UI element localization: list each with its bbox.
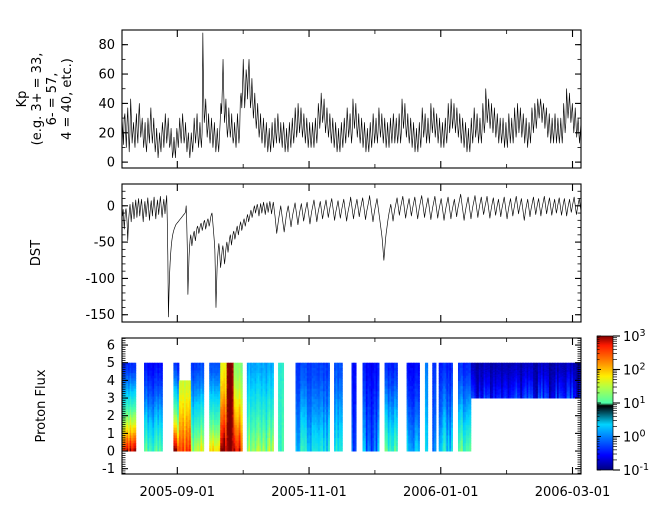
heatmap-cell bbox=[161, 386, 163, 389]
y-tick-label: 20 bbox=[98, 126, 115, 141]
heatmap-cell bbox=[396, 441, 398, 444]
heatmap-cell bbox=[434, 396, 436, 399]
heatmap-cell bbox=[161, 371, 163, 374]
heatmap-cell bbox=[272, 417, 274, 420]
heatmap-cell bbox=[282, 391, 284, 394]
heatmap-cell bbox=[282, 446, 284, 449]
heatmap-cell bbox=[202, 409, 204, 412]
heatmap-cell bbox=[426, 378, 428, 381]
heatmap-cell bbox=[282, 430, 284, 433]
heatmap-cell bbox=[355, 407, 357, 410]
heatmap-cell bbox=[396, 389, 398, 392]
heatmap-cell bbox=[202, 381, 204, 384]
heatmap-cell bbox=[134, 389, 136, 392]
heatmap-cell bbox=[241, 368, 243, 371]
heatmap-cell bbox=[355, 371, 357, 374]
heatmap-cell bbox=[177, 365, 179, 368]
heatmap-cell bbox=[341, 389, 343, 392]
heatmap-cell bbox=[434, 420, 436, 423]
heatmap-cell bbox=[202, 389, 204, 392]
heatmap-cell bbox=[418, 412, 420, 415]
heatmap-cell bbox=[202, 407, 204, 410]
heatmap-cell bbox=[328, 407, 330, 410]
y-tick-label: -50 bbox=[94, 236, 115, 251]
heatmap-cell bbox=[134, 446, 136, 449]
heatmap-cell bbox=[282, 381, 284, 384]
heatmap-cell bbox=[328, 425, 330, 428]
y-tick-label: 0 bbox=[107, 156, 115, 171]
heatmap-cell bbox=[134, 417, 136, 420]
heatmap-cell bbox=[426, 412, 428, 415]
heatmap-cell bbox=[161, 391, 163, 394]
heatmap-cell bbox=[272, 446, 274, 449]
heatmap-cell bbox=[341, 376, 343, 379]
heatmap-cell bbox=[272, 376, 274, 379]
heatmap-cell bbox=[418, 389, 420, 392]
heatmap-cell bbox=[328, 376, 330, 379]
heatmap-cell bbox=[377, 430, 379, 433]
heatmap-cell bbox=[396, 376, 398, 379]
heatmap-cell bbox=[241, 402, 243, 405]
heatmap-cell bbox=[426, 365, 428, 368]
heatmap-cell bbox=[282, 420, 284, 423]
heatmap-cell bbox=[426, 399, 428, 402]
heatmap-cell bbox=[418, 448, 420, 451]
heatmap-cell bbox=[396, 438, 398, 441]
heatmap-cell bbox=[434, 412, 436, 415]
heatmap-cell bbox=[396, 396, 398, 399]
heatmap-cell bbox=[282, 368, 284, 371]
heatmap-cell bbox=[328, 365, 330, 368]
heatmap-cell bbox=[418, 430, 420, 433]
heatmap-cell bbox=[272, 368, 274, 371]
heatmap-cell bbox=[418, 409, 420, 412]
heatmap-cell bbox=[418, 428, 420, 431]
heatmap-cell bbox=[272, 402, 274, 405]
heatmap-cell bbox=[341, 371, 343, 374]
heatmap-cell bbox=[396, 430, 398, 433]
heatmap-cell bbox=[134, 365, 136, 368]
kp-axis-label-line: 6- = 57, bbox=[45, 73, 60, 126]
heatmap-cell bbox=[434, 446, 436, 449]
heatmap-cell bbox=[177, 376, 179, 379]
heatmap-cell bbox=[355, 438, 357, 441]
heatmap-cell bbox=[134, 396, 136, 399]
heatmap-cell bbox=[418, 376, 420, 379]
heatmap-cell bbox=[161, 399, 163, 402]
heatmap-cell bbox=[134, 441, 136, 444]
heatmap-cell bbox=[355, 425, 357, 428]
heatmap-cell bbox=[272, 412, 274, 415]
heatmap-cell bbox=[341, 381, 343, 384]
heatmap-cell bbox=[418, 446, 420, 449]
heatmap-cell bbox=[134, 402, 136, 405]
heatmap-cell bbox=[282, 428, 284, 431]
heatmap-cell bbox=[202, 435, 204, 438]
heatmap-cell bbox=[161, 446, 163, 449]
heatmap-cell bbox=[396, 386, 398, 389]
heatmap-cell bbox=[134, 428, 136, 431]
heatmap-cell bbox=[355, 376, 357, 379]
heatmap-cell bbox=[418, 371, 420, 374]
heatmap-cell bbox=[396, 446, 398, 449]
heatmap-cell bbox=[341, 438, 343, 441]
heatmap-cell bbox=[282, 417, 284, 420]
heatmap-cell bbox=[341, 441, 343, 444]
three-panel-timeseries-plot: 020406080 Kp(e.g. 3+ = 33,6- = 57,4 = 40… bbox=[0, 0, 665, 523]
heatmap-cell bbox=[241, 425, 243, 428]
heatmap-cell bbox=[202, 448, 204, 451]
heatmap-cell bbox=[418, 391, 420, 394]
heatmap-cell bbox=[161, 396, 163, 399]
heatmap-cell bbox=[282, 396, 284, 399]
heatmap-cell bbox=[134, 407, 136, 410]
kp-axis-label-line: (e.g. 3+ = 33, bbox=[30, 53, 45, 146]
heatmap-cell bbox=[202, 391, 204, 394]
heatmap-cell bbox=[328, 420, 330, 423]
heatmap-cell bbox=[282, 441, 284, 444]
heatmap-cell bbox=[328, 371, 330, 374]
heatmap-cell bbox=[355, 446, 357, 449]
heatmap-cell bbox=[434, 386, 436, 389]
heatmap-cell bbox=[434, 417, 436, 420]
heatmap-cell bbox=[434, 409, 436, 412]
heatmap-cell bbox=[341, 391, 343, 394]
heatmap-cell bbox=[272, 389, 274, 392]
heatmap-cell bbox=[426, 371, 428, 374]
heatmap-cell bbox=[202, 441, 204, 444]
heatmap-cell bbox=[328, 391, 330, 394]
kp-axis-label-line: 4 = 40, etc.) bbox=[60, 58, 75, 140]
heatmap-cell bbox=[328, 412, 330, 415]
heatmap-cell bbox=[202, 430, 204, 433]
heatmap-cell bbox=[328, 381, 330, 384]
heatmap-cell bbox=[272, 396, 274, 399]
y-tick-label: 80 bbox=[98, 38, 115, 53]
heatmap-cell bbox=[434, 407, 436, 410]
heatmap-cell bbox=[426, 376, 428, 379]
heatmap-cell bbox=[272, 407, 274, 410]
heatmap-cell bbox=[377, 412, 379, 415]
heatmap-cell bbox=[426, 438, 428, 441]
heatmap-cell bbox=[161, 376, 163, 379]
heatmap-cell bbox=[341, 417, 343, 420]
heatmap-cell bbox=[426, 396, 428, 399]
heatmap-cell bbox=[434, 365, 436, 368]
y-tick-label: -100 bbox=[85, 272, 115, 287]
heatmap-cell bbox=[241, 378, 243, 381]
heatmap-cell bbox=[241, 407, 243, 410]
heatmap-cell bbox=[328, 368, 330, 371]
heatmap-cell bbox=[426, 430, 428, 433]
heatmap-cell bbox=[434, 376, 436, 379]
heatmap-cell bbox=[418, 386, 420, 389]
heatmap-cell bbox=[341, 435, 343, 438]
heatmap-cell bbox=[355, 378, 357, 381]
heatmap-cell bbox=[202, 402, 204, 405]
heatmap-cell bbox=[134, 399, 136, 402]
heatmap-cell bbox=[341, 378, 343, 381]
heatmap-cell bbox=[341, 430, 343, 433]
heatmap-cell bbox=[272, 441, 274, 444]
heatmap-cell bbox=[377, 386, 379, 389]
heatmap-cell bbox=[434, 448, 436, 451]
heatmap-cell bbox=[282, 407, 284, 410]
heatmap-cell bbox=[341, 402, 343, 405]
heatmap-cell bbox=[202, 425, 204, 428]
heatmap-cell bbox=[328, 378, 330, 381]
heatmap-cell bbox=[161, 417, 163, 420]
heatmap-cell bbox=[377, 378, 379, 381]
heatmap-cell bbox=[355, 448, 357, 451]
heatmap-cell bbox=[396, 420, 398, 423]
heatmap-cell bbox=[161, 430, 163, 433]
heatmap-cell bbox=[396, 448, 398, 451]
heatmap-cell bbox=[396, 428, 398, 431]
heatmap-cell bbox=[241, 381, 243, 384]
heatmap-cell bbox=[377, 438, 379, 441]
heatmap-cell bbox=[202, 417, 204, 420]
heatmap-cell bbox=[377, 381, 379, 384]
heatmap-cell bbox=[202, 365, 204, 368]
heatmap-cell bbox=[426, 428, 428, 431]
heatmap-cell bbox=[202, 371, 204, 374]
heatmap-cell bbox=[282, 389, 284, 392]
heatmap-cell bbox=[282, 386, 284, 389]
heatmap-cell bbox=[161, 420, 163, 423]
heatmap-cell bbox=[241, 441, 243, 444]
heatmap-cell bbox=[377, 409, 379, 412]
heatmap-cell bbox=[328, 402, 330, 405]
heatmap-cell bbox=[328, 396, 330, 399]
heatmap-cell bbox=[272, 420, 274, 423]
heatmap-cell bbox=[355, 417, 357, 420]
heatmap-cell bbox=[134, 448, 136, 451]
heatmap-cell bbox=[418, 402, 420, 405]
heatmap-cell bbox=[377, 420, 379, 423]
heatmap-cell bbox=[418, 425, 420, 428]
kp-axis-label-line: Kp bbox=[15, 91, 30, 108]
heatmap-cell bbox=[377, 376, 379, 379]
heatmap-cell bbox=[377, 365, 379, 368]
heatmap-cell bbox=[434, 441, 436, 444]
space-weather-figure: 020406080 Kp(e.g. 3+ = 33,6- = 57,4 = 40… bbox=[0, 0, 665, 523]
heatmap-cell bbox=[134, 412, 136, 415]
heatmap-cell bbox=[341, 412, 343, 415]
heatmap-cell bbox=[426, 448, 428, 451]
heatmap-cell bbox=[355, 368, 357, 371]
heatmap-cell bbox=[272, 438, 274, 441]
heatmap-cell bbox=[341, 420, 343, 423]
heatmap-cell bbox=[202, 446, 204, 449]
heatmap-cell bbox=[272, 381, 274, 384]
heatmap-cell bbox=[161, 407, 163, 410]
heatmap-cell bbox=[426, 381, 428, 384]
heatmap-cell bbox=[434, 399, 436, 402]
heatmap-cell bbox=[161, 448, 163, 451]
heatmap-cell bbox=[418, 365, 420, 368]
heatmap-cell bbox=[202, 428, 204, 431]
heatmap-cell bbox=[355, 420, 357, 423]
heatmap-cell bbox=[396, 399, 398, 402]
heatmap-cell bbox=[396, 402, 398, 405]
heatmap-cell bbox=[434, 435, 436, 438]
heatmap-cell bbox=[328, 446, 330, 449]
heatmap-cell bbox=[282, 409, 284, 412]
heatmap-cell bbox=[426, 417, 428, 420]
heatmap-cell bbox=[134, 425, 136, 428]
heatmap-cell bbox=[377, 448, 379, 451]
heatmap-cell bbox=[418, 399, 420, 402]
heatmap-cell bbox=[426, 441, 428, 444]
heatmap-cell bbox=[396, 368, 398, 371]
heatmap-cell bbox=[282, 371, 284, 374]
heatmap-cell bbox=[202, 376, 204, 379]
heatmap-cell bbox=[161, 435, 163, 438]
heatmap-cell bbox=[202, 399, 204, 402]
heatmap-cell bbox=[418, 368, 420, 371]
heatmap-cell bbox=[241, 386, 243, 389]
heatmap-cell bbox=[272, 399, 274, 402]
heatmap-cell bbox=[426, 386, 428, 389]
heatmap-cell bbox=[241, 409, 243, 412]
heatmap-cell bbox=[202, 378, 204, 381]
heatmap-cell bbox=[377, 441, 379, 444]
heatmap-cell bbox=[377, 396, 379, 399]
heatmap-cell bbox=[341, 409, 343, 412]
heatmap-cell bbox=[426, 446, 428, 449]
heatmap-cell bbox=[426, 368, 428, 371]
heatmap-cell bbox=[377, 391, 379, 394]
heatmap-cell bbox=[396, 409, 398, 412]
heatmap-cell bbox=[426, 407, 428, 410]
heatmap-cell bbox=[355, 412, 357, 415]
heatmap-cell bbox=[272, 435, 274, 438]
heatmap-cell bbox=[418, 396, 420, 399]
heatmap-cell bbox=[241, 371, 243, 374]
heatmap-cell bbox=[418, 420, 420, 423]
heatmap-cell bbox=[241, 396, 243, 399]
heatmap-cell bbox=[241, 448, 243, 451]
heatmap-cell bbox=[202, 386, 204, 389]
heatmap-cell bbox=[272, 391, 274, 394]
heatmap-cell bbox=[134, 368, 136, 371]
heatmap-cell bbox=[282, 399, 284, 402]
heatmap-cell bbox=[434, 430, 436, 433]
heatmap-cell bbox=[355, 396, 357, 399]
heatmap-cell bbox=[282, 435, 284, 438]
heatmap-cell bbox=[202, 396, 204, 399]
heatmap-cell bbox=[161, 412, 163, 415]
heatmap-cell bbox=[282, 448, 284, 451]
heatmap-cell bbox=[241, 376, 243, 379]
heatmap-cell bbox=[161, 402, 163, 405]
heatmap-cell bbox=[328, 417, 330, 420]
heatmap-cell bbox=[177, 368, 179, 371]
y-tick-label: 0 bbox=[107, 199, 115, 214]
heatmap-cell bbox=[396, 435, 398, 438]
heatmap-cell bbox=[396, 371, 398, 374]
heatmap-cell bbox=[355, 441, 357, 444]
heatmap-cell bbox=[396, 381, 398, 384]
heatmap-cell bbox=[328, 441, 330, 444]
heatmap-cell bbox=[328, 430, 330, 433]
heatmap-cell bbox=[272, 371, 274, 374]
heatmap-cell bbox=[341, 407, 343, 410]
heatmap-cell bbox=[341, 396, 343, 399]
heatmap-cell bbox=[355, 389, 357, 392]
heatmap-cell bbox=[134, 378, 136, 381]
heatmap-cell bbox=[396, 391, 398, 394]
heatmap-cell bbox=[134, 438, 136, 441]
heatmap-cell bbox=[161, 425, 163, 428]
heatmap-cell bbox=[355, 399, 357, 402]
heatmap-cell bbox=[241, 446, 243, 449]
heatmap-cell bbox=[396, 407, 398, 410]
heatmap-cell bbox=[341, 425, 343, 428]
heatmap-cell bbox=[241, 391, 243, 394]
heatmap-cell bbox=[161, 389, 163, 392]
heatmap-cell bbox=[434, 438, 436, 441]
heatmap-cell bbox=[161, 428, 163, 431]
heatmap-cell bbox=[377, 435, 379, 438]
heatmap-cell bbox=[328, 428, 330, 431]
heatmap-cell bbox=[355, 381, 357, 384]
heatmap-cell bbox=[426, 391, 428, 394]
heatmap-cell bbox=[272, 430, 274, 433]
heatmap-cell bbox=[328, 435, 330, 438]
y-tick-label: -150 bbox=[85, 308, 115, 323]
heatmap-cell bbox=[161, 378, 163, 381]
heatmap-cell bbox=[434, 391, 436, 394]
heatmap-cell bbox=[272, 386, 274, 389]
heatmap-cell bbox=[418, 378, 420, 381]
heatmap-cell bbox=[418, 417, 420, 420]
heatmap-cell bbox=[282, 438, 284, 441]
heatmap-cell bbox=[341, 446, 343, 449]
heatmap-cell bbox=[134, 435, 136, 438]
heatmap-cell bbox=[355, 365, 357, 368]
heatmap-cell bbox=[282, 412, 284, 415]
heatmap-cell bbox=[272, 378, 274, 381]
heatmap-cell bbox=[282, 402, 284, 405]
heatmap-cell bbox=[161, 381, 163, 384]
heatmap-cell bbox=[328, 389, 330, 392]
heatmap-cell bbox=[355, 402, 357, 405]
heatmap-cell bbox=[272, 409, 274, 412]
heatmap-cell bbox=[161, 409, 163, 412]
heatmap-cell bbox=[134, 430, 136, 433]
heatmap-cell bbox=[328, 438, 330, 441]
heatmap-cell bbox=[341, 365, 343, 368]
heatmap-cell bbox=[272, 428, 274, 431]
heatmap-cell bbox=[355, 409, 357, 412]
heatmap-cell bbox=[377, 371, 379, 374]
heatmap-cell bbox=[341, 399, 343, 402]
heatmap-cell bbox=[377, 446, 379, 449]
heatmap-cell bbox=[434, 402, 436, 405]
heatmap-cell bbox=[328, 448, 330, 451]
heatmap-cell bbox=[426, 409, 428, 412]
heatmap-cell bbox=[426, 402, 428, 405]
heatmap-cell bbox=[241, 435, 243, 438]
heatmap-cell bbox=[241, 438, 243, 441]
heatmap-cell bbox=[328, 399, 330, 402]
dst-axis-label: DST bbox=[29, 240, 44, 266]
heatmap-cell bbox=[272, 448, 274, 451]
heatmap-cell bbox=[134, 409, 136, 412]
heatmap-cell bbox=[282, 365, 284, 368]
